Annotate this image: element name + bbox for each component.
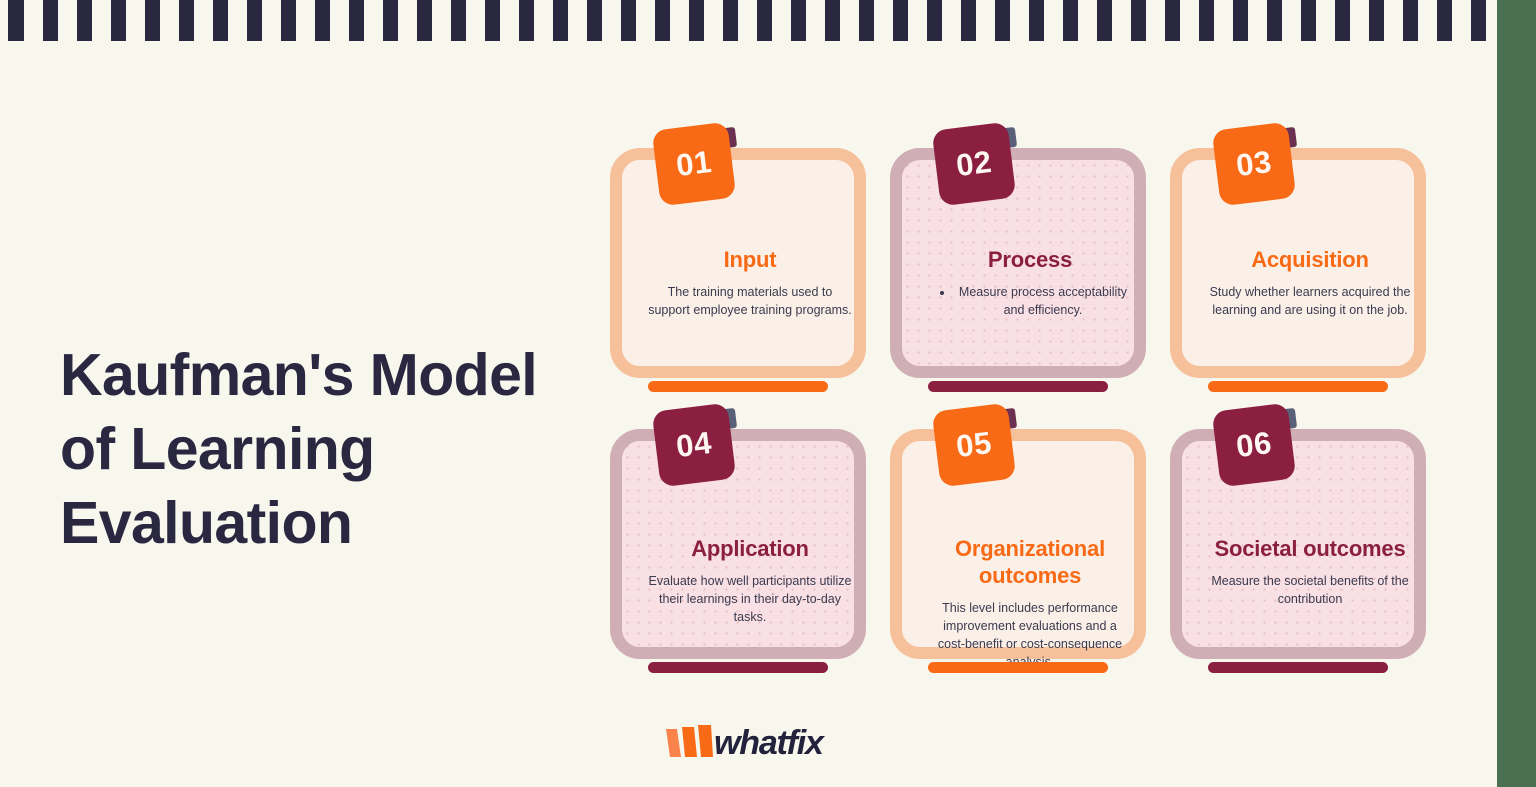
card-number-tab: 06 xyxy=(1216,407,1300,491)
card-02: Process Measure process acceptability an… xyxy=(890,126,1146,378)
card-underbar xyxy=(1208,662,1388,673)
card-body: Input The training materials used to sup… xyxy=(634,194,866,400)
card-description: Measure the societal benefits of the con… xyxy=(1208,572,1412,608)
card-underbar xyxy=(928,662,1108,673)
card-description-list: Measure process acceptability and effici… xyxy=(928,283,1132,319)
card-05: Organizational outcomes This level inclu… xyxy=(890,407,1146,659)
page-title: Kaufman's Model of Learning Evaluation xyxy=(60,338,600,560)
whatfix-mark-icon xyxy=(664,723,720,763)
card-number-tab: 01 xyxy=(656,126,740,210)
right-green-band xyxy=(1497,0,1536,787)
card-number-label: 06 xyxy=(1212,403,1297,488)
card-title: Societal outcomes xyxy=(1215,535,1406,562)
infographic-canvas: Kaufman's Model of Learning Evaluation I… xyxy=(0,0,1536,787)
card-number-label: 01 xyxy=(652,122,737,207)
card-description: Evaluate how well participants utilize t… xyxy=(648,572,852,626)
card-number-tab: 02 xyxy=(936,126,1020,210)
card-06: Societal outcomes Measure the societal b… xyxy=(1170,407,1426,659)
page-title-line-2: of Learning xyxy=(60,416,375,482)
card-underbar xyxy=(1208,381,1388,392)
card-number-label: 02 xyxy=(932,122,1017,207)
card-description: This level includes performance improvem… xyxy=(928,599,1132,671)
card-description: The training materials used to support e… xyxy=(648,283,852,319)
card-underbar xyxy=(648,662,828,673)
card-body: Application Evaluate how well participan… xyxy=(634,475,866,681)
card-number-label: 04 xyxy=(652,403,737,488)
top-stripe-band xyxy=(0,0,1497,41)
card-number-tab: 04 xyxy=(656,407,740,491)
card-number-tab: 05 xyxy=(936,407,1020,491)
card-body: Organizational outcomes This level inclu… xyxy=(914,475,1146,681)
card-number-label: 03 xyxy=(1212,122,1297,207)
card-number-tab: 03 xyxy=(1216,126,1300,210)
whatfix-logo: whatfix xyxy=(664,718,844,768)
card-body: Process Measure process acceptability an… xyxy=(914,194,1146,400)
card-01: Input The training materials used to sup… xyxy=(610,126,866,378)
page-title-line-3: Evaluation xyxy=(60,490,352,556)
card-grid: Input The training materials used to sup… xyxy=(610,126,1434,659)
card-description: Study whether learners acquired the lear… xyxy=(1208,283,1412,319)
card-body: Acquisition Study whether learners acqui… xyxy=(1194,194,1426,400)
card-title: Process xyxy=(988,246,1072,273)
page-title-line-1: Kaufman's Model xyxy=(60,342,537,408)
card-title: Application xyxy=(691,535,809,562)
card-number-label: 05 xyxy=(932,403,1017,488)
card-title: Organizational outcomes xyxy=(928,535,1132,589)
card-title: Acquisition xyxy=(1251,246,1369,273)
card-underbar xyxy=(648,381,828,392)
card-body: Societal outcomes Measure the societal b… xyxy=(1194,475,1426,681)
card-03: Acquisition Study whether learners acqui… xyxy=(1170,126,1426,378)
card-underbar xyxy=(928,381,1108,392)
card-title: Input xyxy=(724,246,777,273)
card-04: Application Evaluate how well participan… xyxy=(610,407,866,659)
whatfix-wordmark: whatfix xyxy=(714,726,823,760)
card-description: Measure process acceptability and effici… xyxy=(954,283,1132,319)
